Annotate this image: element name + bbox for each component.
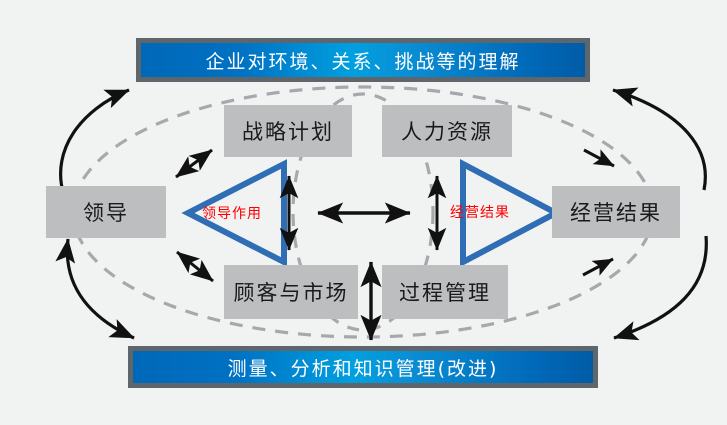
curve-leadership-down xyxy=(67,239,134,338)
box-customer-market-label: 顾客与市场 xyxy=(234,277,349,307)
triangle-left-label: 领导作用 xyxy=(202,203,262,223)
curve-results-up xyxy=(613,90,705,190)
arrow-hr-outward xyxy=(584,150,614,166)
box-process-management: 过程管理 xyxy=(382,265,508,319)
box-human-resources: 人力资源 xyxy=(382,105,512,157)
box-leadership: 领导 xyxy=(46,186,166,238)
diagram-canvas: 企业对环境、关系、挑战等的理解 测量、分析和知识管理(改进) 领导 战略计划 人… xyxy=(0,0,727,425)
box-strategy: 战略计划 xyxy=(224,105,352,157)
banner-top-label: 企业对环境、关系、挑战等的理解 xyxy=(205,47,520,74)
arrow-leadership-strategy xyxy=(176,150,212,177)
arrow-leadership-customer xyxy=(177,252,213,281)
box-customer-market: 顾客与市场 xyxy=(224,265,358,319)
arrow-process-outward xyxy=(583,259,613,275)
box-human-resources-label: 人力资源 xyxy=(401,116,493,146)
banner-bottom: 测量、分析和知识管理(改进) xyxy=(128,346,598,388)
box-business-results-label: 经营结果 xyxy=(570,197,662,227)
triangle-right-label: 经营结果 xyxy=(450,202,510,222)
banner-top: 企业对环境、关系、挑战等的理解 xyxy=(136,38,590,82)
box-strategy-label: 战略计划 xyxy=(242,116,334,146)
box-leadership-label: 领导 xyxy=(83,197,129,227)
curve-results-down xyxy=(614,236,706,338)
box-business-results: 经营结果 xyxy=(552,186,680,238)
curve-leadership-up xyxy=(61,90,129,192)
banner-bottom-label: 测量、分析和知识管理(改进) xyxy=(228,354,499,381)
box-process-management-label: 过程管理 xyxy=(399,277,491,307)
